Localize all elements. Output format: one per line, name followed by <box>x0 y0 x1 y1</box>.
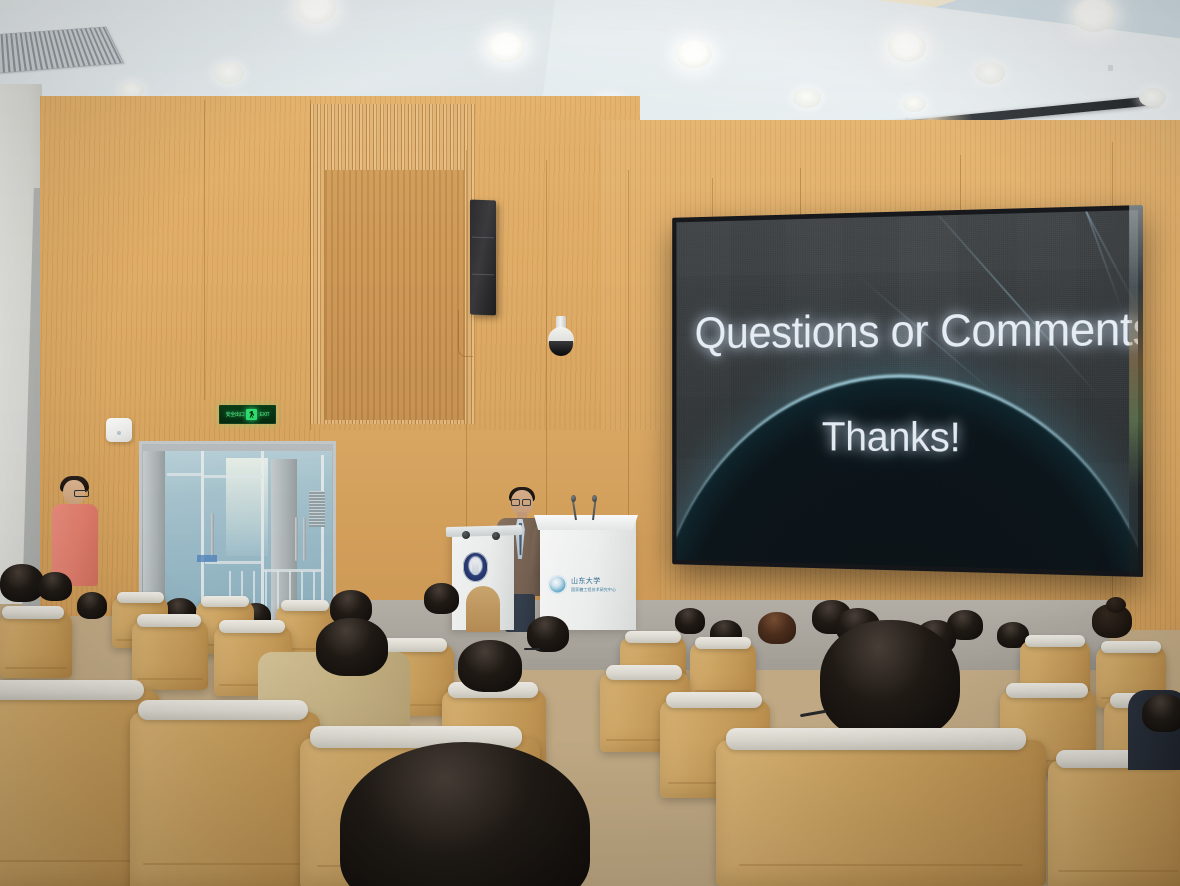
seat-headrest <box>219 620 285 633</box>
door-rail <box>201 475 263 478</box>
seat-headrest <box>1006 683 1088 698</box>
auditorium-seat[interactable] <box>1048 760 1180 886</box>
seat-headrest <box>201 596 249 607</box>
lobby-louver-vent <box>309 491 325 527</box>
seat-headrest <box>117 592 164 603</box>
wall-wood-panel-dark <box>325 170 465 420</box>
seat-headrest <box>666 692 762 708</box>
audience-head <box>458 640 522 692</box>
screen-display: Questions or Comments Thanks! <box>676 210 1138 572</box>
lectern-arch-opening <box>466 586 500 632</box>
audience-head <box>527 616 569 652</box>
lectern-knob <box>492 532 500 540</box>
wall-seam <box>310 100 311 430</box>
audience-head-foreground <box>820 620 960 740</box>
speaker-cable <box>458 310 473 357</box>
ceiling-downlight <box>1139 88 1166 107</box>
standing-attendee <box>52 480 98 585</box>
podium-logo-mark-icon <box>548 575 567 594</box>
entrance-door[interactable] <box>139 441 336 621</box>
ceiling-downlight <box>975 62 1005 84</box>
podium-logo-subtitle: 国家糖工程技术研究中心 <box>571 587 616 593</box>
exit-sign-label-cn: 安全出口 <box>226 411 245 418</box>
camera-lens <box>549 341 573 356</box>
seat-headrest <box>137 614 201 627</box>
audience-head <box>316 618 388 676</box>
microphone-head-icon <box>571 495 576 502</box>
seat-headrest <box>606 665 682 680</box>
seat-headrest <box>726 728 1026 750</box>
presentation-screen[interactable]: Questions or Comments Thanks! <box>672 205 1143 577</box>
seat-headrest <box>138 700 308 720</box>
podium-logo-name: 山东大学 <box>571 576 616 586</box>
audience-head <box>38 572 72 601</box>
standing-attendee-glasses-icon <box>74 490 89 497</box>
audience-head <box>77 592 107 619</box>
exit-sign-label-en: EXIT <box>259 412 269 418</box>
ceiling-downlight <box>487 32 525 62</box>
auditorium-seat[interactable] <box>130 712 320 886</box>
screen-edge-reflection <box>1129 205 1143 577</box>
wall-seam <box>204 100 205 400</box>
ceiling-downlight <box>214 62 244 84</box>
audience-glasses-icon <box>524 648 540 650</box>
ceiling-downlight <box>888 32 926 62</box>
seat-headrest <box>281 600 329 611</box>
lectern-shelf <box>446 525 522 537</box>
audience-head <box>758 612 796 644</box>
ceiling-downlight <box>903 96 926 112</box>
seat-headrest <box>1025 635 1085 647</box>
slide-title: Questions or Comments <box>695 300 1138 357</box>
podium-logo: 山东大学 国家糖工程技术研究中心 <box>548 572 634 596</box>
door-handle[interactable] <box>303 517 306 561</box>
seat-headrest <box>2 606 64 619</box>
wall-seam <box>960 155 961 211</box>
seat-headrest <box>379 638 447 652</box>
ceiling-sprinkler <box>1108 65 1113 71</box>
audience-glasses-icon <box>800 710 826 717</box>
auditorium-seat[interactable] <box>0 612 72 678</box>
seat-headrest <box>0 680 144 700</box>
ceiling-downlight <box>676 40 712 68</box>
access-point-led <box>117 431 121 435</box>
wifi-access-point-icon <box>106 418 132 442</box>
podium-logo-text: 山东大学 国家糖工程技术研究中心 <box>571 576 616 593</box>
door-handle[interactable] <box>211 513 214 559</box>
auditorium-seat[interactable] <box>716 740 1046 886</box>
seat-headrest <box>625 631 681 643</box>
audience-head <box>675 608 705 634</box>
auditorium-seat[interactable] <box>132 620 208 690</box>
ceiling-downlight <box>793 88 821 108</box>
security-camera-icon <box>548 316 574 358</box>
door-rail <box>167 473 203 476</box>
presenter-glasses-icon <box>511 499 531 504</box>
seat-headrest <box>1101 641 1161 653</box>
emergency-exit-sign: 安全出口 EXIT <box>219 405 276 424</box>
audience-head <box>424 583 459 614</box>
wall-seam <box>800 168 801 218</box>
podium-top-surface <box>534 515 638 530</box>
lectern-knob <box>462 531 470 539</box>
running-man-icon <box>246 409 257 420</box>
slide-subtitle: Thanks! <box>822 413 961 461</box>
lobby-blue-object <box>197 555 217 562</box>
door-handle[interactable] <box>295 517 298 561</box>
wall-speaker-icon <box>470 200 496 316</box>
university-crest-icon <box>463 552 488 582</box>
lecture-hall-photo: 安全出口 EXIT <box>0 0 1180 886</box>
microphone-head-icon <box>592 495 597 502</box>
seat-headrest <box>695 637 751 649</box>
audience-head <box>1142 694 1180 732</box>
audience-hair-bun <box>1106 597 1126 613</box>
